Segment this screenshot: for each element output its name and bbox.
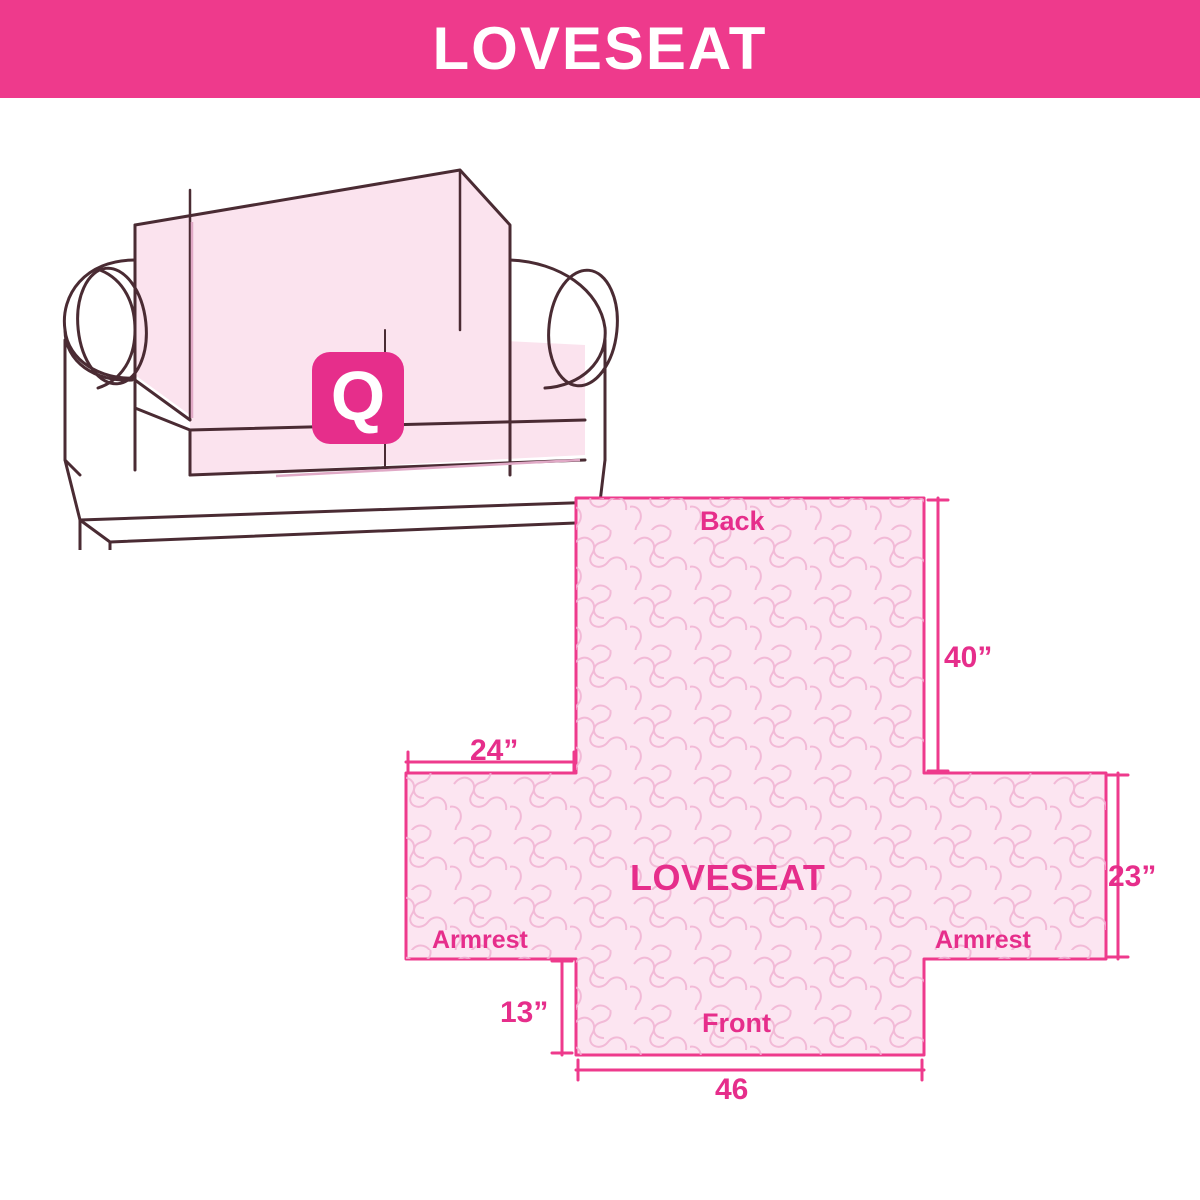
panel-label-armrest-right: Armrest xyxy=(935,928,1031,953)
diagram-center-label: LOVESEAT xyxy=(630,860,825,896)
dimension-back-offset: 24” xyxy=(470,736,518,766)
cover-outline xyxy=(390,470,1180,1150)
dimension-total-width: 46 xyxy=(715,1075,748,1105)
brand-logo: Q xyxy=(312,352,404,444)
brand-logo-letter: Q xyxy=(331,361,385,431)
product-size-chart: LOVESEAT xyxy=(0,0,1200,1200)
panel-label-armrest-left: Armrest xyxy=(432,928,528,953)
dimension-front-skirt: 13” xyxy=(500,998,548,1028)
dimension-back-height: 40” xyxy=(944,643,992,673)
panel-label-back: Back xyxy=(700,508,765,535)
panel-label-front: Front xyxy=(702,1010,771,1037)
page-title: LOVESEAT xyxy=(433,19,768,79)
cover-flat-diagram: Back Front Armrest Armrest LOVESEAT 40” … xyxy=(390,470,1180,1150)
dimension-seat-depth: 23” xyxy=(1108,862,1156,892)
header-bar: LOVESEAT xyxy=(0,0,1200,98)
